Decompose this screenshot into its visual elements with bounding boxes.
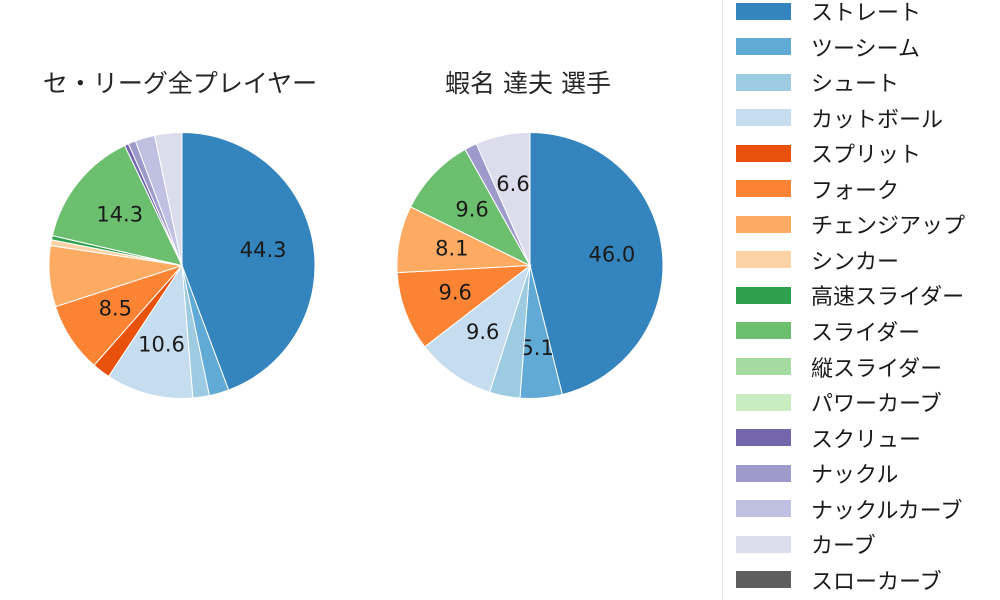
legend-item[interactable]: シンカー: [736, 245, 899, 275]
legend-label: スクリュー: [811, 422, 921, 454]
chart-panel-player: 蝦名 達夫 選手 46.05.19.69.68.19.66.6: [348, 0, 708, 600]
pie-slice-label: 8.5: [99, 296, 132, 320]
legend-item[interactable]: スプリット: [736, 138, 921, 168]
legend-item[interactable]: パワーカーブ: [736, 387, 942, 417]
legend-item[interactable]: ツーシーム: [736, 32, 920, 62]
legend-swatch: [736, 571, 791, 588]
legend-label: ストレート: [811, 0, 921, 27]
legend-label: シュート: [811, 66, 899, 98]
pie-slice-label: 14.3: [96, 203, 143, 227]
pie-slice-label: 9.6: [455, 198, 488, 222]
legend-label: パワーカーブ: [811, 386, 942, 418]
pie-slice-label: 5.1: [520, 336, 553, 360]
legend-label: フォーク: [811, 173, 899, 205]
legend-swatch: [736, 536, 791, 553]
legend-swatch: [736, 74, 791, 91]
legend-item[interactable]: スライダー: [736, 316, 920, 346]
legend-label: スプリット: [811, 137, 921, 169]
legend-swatch: [736, 358, 791, 375]
legend-swatch: [736, 145, 791, 162]
pie-slice-label: 9.6: [438, 280, 471, 304]
chart-panel-league: セ・リーグ全プレイヤー 44.310.68.514.3: [0, 0, 360, 600]
pie-slice-label: 9.6: [466, 320, 499, 344]
legend-item[interactable]: カットボール: [736, 103, 943, 133]
legend-label: ツーシーム: [811, 31, 920, 63]
legend-label: シンカー: [811, 244, 899, 276]
legend-item[interactable]: チェンジアップ: [736, 209, 965, 239]
legend-swatch: [736, 109, 791, 126]
legend-item[interactable]: スクリュー: [736, 423, 921, 453]
legend-label: ナックル: [811, 457, 898, 489]
pie-slice-label: 6.6: [496, 172, 529, 196]
legend-item[interactable]: ストレート: [736, 0, 921, 26]
legend-item[interactable]: 縦スライダー: [736, 352, 942, 382]
pitch-type-distribution-figure: セ・リーグ全プレイヤー 44.310.68.514.3 蝦名 達夫 選手 46.…: [0, 0, 1000, 600]
legend-swatch: [736, 394, 791, 411]
legend-swatch: [736, 180, 791, 197]
legend-label: スライダー: [811, 315, 920, 347]
legend-label: 縦スライダー: [811, 351, 942, 383]
legend-item[interactable]: フォーク: [736, 174, 899, 204]
pie-chart-league: 44.310.68.514.3: [0, 0, 360, 600]
legend-swatch: [736, 465, 791, 482]
pie-slice-label: 8.1: [435, 237, 468, 261]
legend-item[interactable]: スローカーブ: [736, 565, 942, 595]
legend-label: スローカーブ: [811, 564, 942, 596]
legend-item[interactable]: ナックル: [736, 458, 898, 488]
legend-swatch: [736, 500, 791, 517]
legend-item[interactable]: 高速スライダー: [736, 280, 964, 310]
legend-swatch: [736, 216, 791, 233]
pie-svg-league: 44.310.68.514.3: [0, 0, 360, 600]
legend-item[interactable]: カーブ: [736, 529, 876, 559]
legend-swatch: [736, 3, 791, 20]
pie-slice-label: 46.0: [588, 242, 635, 266]
legend-swatch: [736, 322, 791, 339]
pie-slice-label: 44.3: [240, 238, 287, 262]
legend-label: カットボール: [811, 102, 943, 134]
legend-label: チェンジアップ: [811, 208, 965, 240]
legend-label: 高速スライダー: [811, 279, 964, 311]
legend-label: ナックルカーブ: [811, 493, 962, 525]
legend-swatch: [736, 429, 791, 446]
pie-slice-label: 10.6: [138, 332, 185, 356]
pie-svg-player: 46.05.19.69.68.19.66.6: [348, 0, 708, 600]
legend-item[interactable]: ナックルカーブ: [736, 494, 962, 524]
legend-label: カーブ: [811, 528, 876, 560]
legend-swatch: [736, 287, 791, 304]
legend: ストレートツーシームシュートカットボールスプリットフォークチェンジアップシンカー…: [722, 0, 1000, 600]
legend-item[interactable]: シュート: [736, 67, 899, 97]
pie-chart-player: 46.05.19.69.68.19.66.6: [348, 0, 708, 600]
legend-swatch: [736, 38, 791, 55]
legend-swatch: [736, 251, 791, 268]
